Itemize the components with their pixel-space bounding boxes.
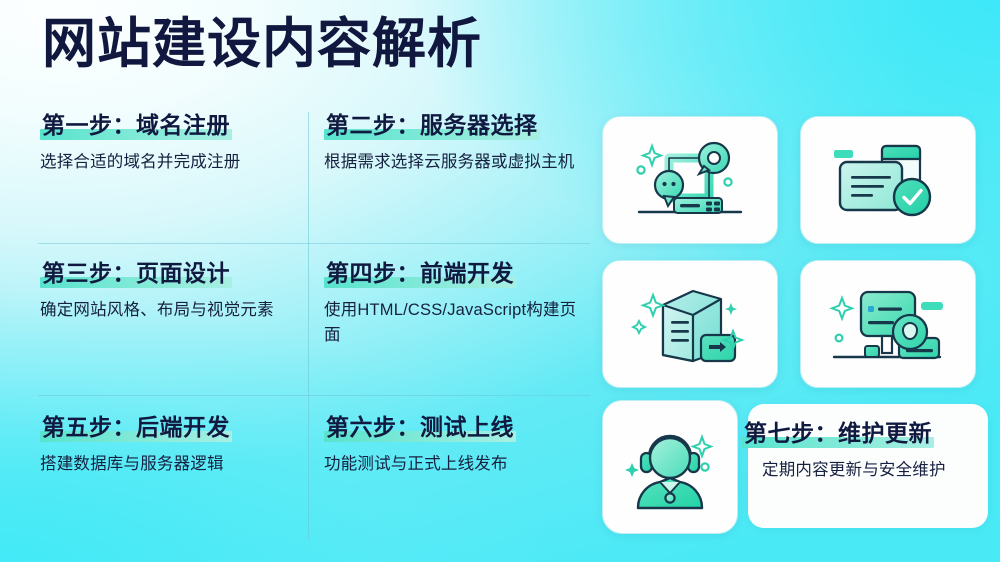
step-7-description: 定期内容更新与安全维护: [762, 458, 976, 482]
step-6-description: 功能测试与正式上线发布: [324, 452, 582, 476]
illustration-card-3: [602, 260, 778, 388]
illustration-card-4: [800, 260, 976, 388]
illustration-card-2: [800, 116, 976, 244]
monitor-user-profile-icon: [822, 276, 954, 372]
illustration-card-5: [602, 400, 738, 534]
step-item-5: 第五步：后端开发 搭建数据库与服务器逻辑: [40, 414, 308, 544]
poster-canvas: 网站建设内容解析 第一步：域名注册 选择合适的域名并完成注册 第二步：服务器选择…: [0, 0, 1000, 562]
step-item-6: 第六步：测试上线 功能测试与正式上线发布: [324, 414, 592, 544]
step-2-heading: 第二步：服务器选择: [324, 112, 540, 141]
step-3-description: 确定网站风格、布局与视觉元素: [40, 298, 298, 322]
step-5-heading-text: 第五步：后端开发: [42, 414, 230, 440]
support-agent-headset-icon: [617, 415, 723, 519]
document-checkmark-icon: [824, 132, 952, 228]
step-4-heading: 第四步：前端开发: [324, 260, 516, 289]
illustration-card-1: [602, 116, 778, 244]
step-4-heading-text: 第四步：前端开发: [326, 260, 514, 286]
monitor-chat-bubbles-icon: [625, 132, 755, 228]
step-6-heading: 第六步：测试上线: [324, 414, 516, 443]
step-1-heading-text: 第一步：域名注册: [42, 112, 230, 138]
step-2-description: 根据需求选择云服务器或虚拟主机: [324, 150, 582, 174]
server-tower-icon: [625, 275, 755, 373]
step-item-2: 第二步：服务器选择 根据需求选择云服务器或虚拟主机: [324, 112, 592, 248]
step-6-heading-text: 第六步：测试上线: [326, 414, 514, 440]
step-item-3: 第三步：页面设计 确定网站风格、布局与视觉元素: [40, 260, 308, 396]
page-title: 网站建设内容解析: [42, 16, 482, 73]
step-4-description: 使用HTML/CSS/JavaScript构建页面: [324, 298, 582, 347]
step-3-heading-text: 第三步：页面设计: [42, 260, 230, 286]
step-7-heading: 第七步：维护更新: [742, 420, 934, 449]
step-item-7: 第七步：维护更新 定期内容更新与安全维护: [742, 420, 994, 483]
step-5-description: 搭建数据库与服务器逻辑: [40, 452, 298, 476]
steps-grid: 第一步：域名注册 选择合适的域名并完成注册 第二步：服务器选择 根据需求选择云服…: [32, 108, 588, 540]
step-3-heading: 第三步：页面设计: [40, 260, 232, 289]
step-item-1: 第一步：域名注册 选择合适的域名并完成注册: [40, 112, 308, 248]
step-7-heading-text: 第七步：维护更新: [744, 420, 932, 446]
step-5-heading: 第五步：后端开发: [40, 414, 232, 443]
step-1-heading: 第一步：域名注册: [40, 112, 232, 141]
step-2-heading-text: 第二步：服务器选择: [326, 112, 538, 138]
step-1-description: 选择合适的域名并完成注册: [40, 150, 298, 174]
step-item-4: 第四步：前端开发 使用HTML/CSS/JavaScript构建页面: [324, 260, 592, 396]
